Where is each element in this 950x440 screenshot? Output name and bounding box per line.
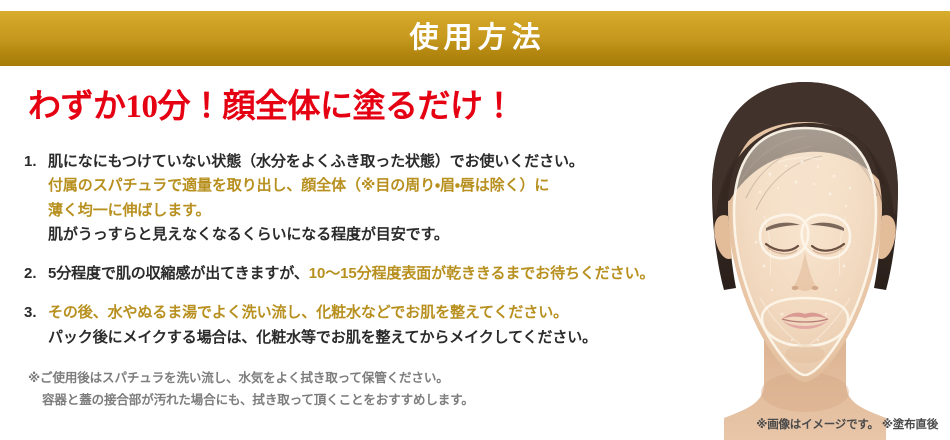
headline: わずか10分！顔全体に塗るだけ！ (28, 89, 515, 125)
model-face-photo: ※画像はイメージです。 ※塗布直後 (660, 66, 950, 440)
step-line-part: 5分程度で肌の収縮感が出てきますが、 (48, 265, 309, 282)
step-line: パック後にメイクする場合は、化粧水等でお肌を整えてからメイクしてください。 (48, 326, 694, 350)
step-line: その後、水やぬるま湯でよく洗い流し、化粧水などでお肌を整えてください。 (48, 301, 694, 325)
step-number: 2. (24, 262, 48, 286)
step-line: 肌になにもつけていない状態（水分をよくふき取った状態）でお使いください。 (48, 150, 694, 174)
footnote-line: 容器と蓋の接合部が汚れた場合にも、拭き取って頂くことをおすすめします。 (28, 390, 648, 412)
step-body: その後、水やぬるま湯でよく洗い流し、化粧水などでお肌を整えてください。 パック後… (48, 301, 694, 350)
section-title-banner: 使用方法 (0, 11, 950, 66)
step-body: 肌になにもつけていない状態（水分をよくふき取った状態）でお使いください。 付属の… (48, 150, 694, 247)
list-item: 1. 肌になにもつけていない状態（水分をよくふき取った状態）でお使いください。 … (24, 150, 694, 247)
step-number: 1. (24, 150, 48, 174)
list-item: 3. その後、水やぬるま湯でよく洗い流し、化粧水などでお肌を整えてください。 パ… (24, 301, 694, 350)
instructions-content: わずか10分！顔全体に塗るだけ！ 1. 肌になにもつけていない状態（水分をよくふ… (0, 66, 700, 440)
step-line: 薄く均一に伸ばします。 (48, 199, 694, 223)
step-line: 肌がうっすらと見えなくなるくらいになる程度が目安です。 (48, 223, 694, 247)
usage-instructions-panel: 使用方法 わずか10分！顔全体に塗るだけ！ 1. 肌になにもつけていない状態（水… (0, 0, 950, 440)
face-illustration (660, 66, 950, 440)
footnote-line: ※ご使用後はスパチュラを洗い流し、水気をよく拭き取って保管ください。 (28, 368, 648, 390)
step-line-highlight: 10〜15分程度表面が乾ききるまでお待ちください。 (309, 265, 655, 282)
photo-caption: ※画像はイメージです。 ※塗布直後 (756, 416, 938, 432)
page-title: 使用方法 (404, 24, 545, 53)
step-body: 5分程度で肌の収縮感が出てきますが、10〜15分程度表面が乾ききるまでお待ちくだ… (48, 262, 694, 286)
footnote: ※ご使用後はスパチュラを洗い流し、水気をよく拭き取って保管ください。 容器と蓋の… (28, 368, 648, 411)
list-item: 2. 5分程度で肌の収縮感が出てきますが、10〜15分程度表面が乾ききるまでお待… (24, 262, 694, 286)
step-line: 5分程度で肌の収縮感が出てきますが、10〜15分程度表面が乾ききるまでお待ちくだ… (48, 262, 694, 286)
step-number: 3. (24, 301, 48, 325)
steps-list: 1. 肌になにもつけていない状態（水分をよくふき取った状態）でお使いください。 … (24, 150, 694, 365)
step-line: 付属のスパチュラで適量を取り出し、顔全体（※目の周り・眉・唇は除く）に (48, 174, 694, 198)
